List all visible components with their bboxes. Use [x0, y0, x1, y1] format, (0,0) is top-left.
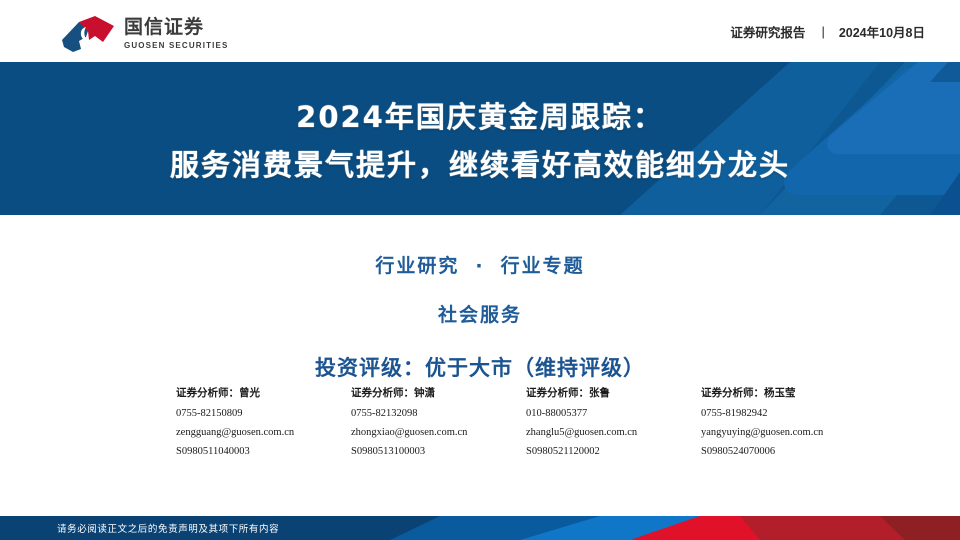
sector-name: 社会服务 — [0, 300, 960, 327]
analyst-card: 证券分析师：钟潇 0755-82132098 zhongxiao@guosen.… — [351, 385, 526, 465]
header-separator: | — [805, 24, 838, 39]
banner-title-group: 2024年国庆黄金周跟踪： 服务消费景气提升，继续看好高效能细分龙头 — [0, 62, 960, 215]
research-category-row: 行业研究·行业专题 — [0, 251, 960, 278]
analyst-list: 证券分析师：曾光 0755-82150809 zengguang@guosen.… — [176, 385, 906, 465]
analyst-email[interactable]: zengguang@guosen.com.cn — [176, 427, 351, 438]
analyst-phone: 0755-82150809 — [176, 408, 351, 419]
analyst-name: 证券分析师：曾光 — [176, 385, 351, 400]
analyst-phone: 0755-82132098 — [351, 408, 526, 419]
analyst-name: 证券分析师：杨玉莹 — [701, 385, 876, 400]
report-type-label: 证券研究报告 — [730, 22, 805, 41]
analyst-card: 证券分析师：张鲁 010-88005377 zhanglu5@guosen.co… — [526, 385, 701, 465]
investment-rating: 投资评级：优于大市（维持评级） — [0, 352, 960, 382]
analyst-email[interactable]: zhongxiao@guosen.com.cn — [351, 427, 526, 438]
analyst-license: S0980524070006 — [701, 446, 876, 457]
analyst-card: 证券分析师：杨玉莹 0755-81982942 yangyuying@guose… — [701, 385, 876, 465]
logo-name-cn: 国信证券 — [124, 18, 228, 38]
analyst-email[interactable]: zhanglu5@guosen.com.cn — [526, 427, 701, 438]
analyst-license: S0980513100003 — [351, 446, 526, 457]
page-footer: 请务必阅读正文之后的免责声明及其项下所有内容 — [0, 516, 960, 540]
research-topic: 行业专题 — [501, 255, 585, 277]
page-header: 国信证券 GUOSEN SECURITIES 证券研究报告 | 2024年10月… — [0, 0, 960, 62]
analyst-name: 证券分析师：钟潇 — [351, 385, 526, 400]
guosen-logo[interactable]: 国信证券 GUOSEN SECURITIES — [59, 14, 229, 54]
footer-disclaimer: 请务必阅读正文之后的免责声明及其项下所有内容 — [57, 516, 279, 540]
report-title-line-2: 服务消费景气提升，继续看好高效能细分龙头 — [170, 142, 790, 184]
logo-name-en: GUOSEN SECURITIES — [124, 41, 228, 50]
analyst-card: 证券分析师：曾光 0755-82150809 zengguang@guosen.… — [176, 385, 351, 465]
analyst-license: S0980521120002 — [526, 446, 701, 457]
analyst-license: S0980511040003 — [176, 446, 351, 457]
analyst-name: 证券分析师：张鲁 — [526, 385, 701, 400]
analyst-phone: 0755-81982942 — [701, 408, 876, 419]
analyst-email[interactable]: yangyuying@guosen.com.cn — [701, 427, 876, 438]
meta-dot-separator: · — [459, 255, 500, 277]
report-meta-block: 行业研究·行业专题 社会服务 投资评级：优于大市（维持评级） — [0, 215, 960, 382]
title-banner: 2024年国庆黄金周跟踪： 服务消费景气提升，继续看好高效能细分龙头 — [0, 62, 960, 215]
report-title-line-1: 2024年国庆黄金周跟踪： — [296, 94, 664, 136]
research-type: 行业研究 — [375, 255, 459, 277]
guosen-logo-mark-icon — [59, 14, 119, 54]
guosen-logo-text: 国信证券 GUOSEN SECURITIES — [124, 18, 228, 50]
analyst-phone: 010-88005377 — [526, 408, 701, 419]
report-date: 2024年10月8日 — [839, 22, 925, 41]
header-meta: 证券研究报告 | 2024年10月8日 — [730, 0, 925, 62]
